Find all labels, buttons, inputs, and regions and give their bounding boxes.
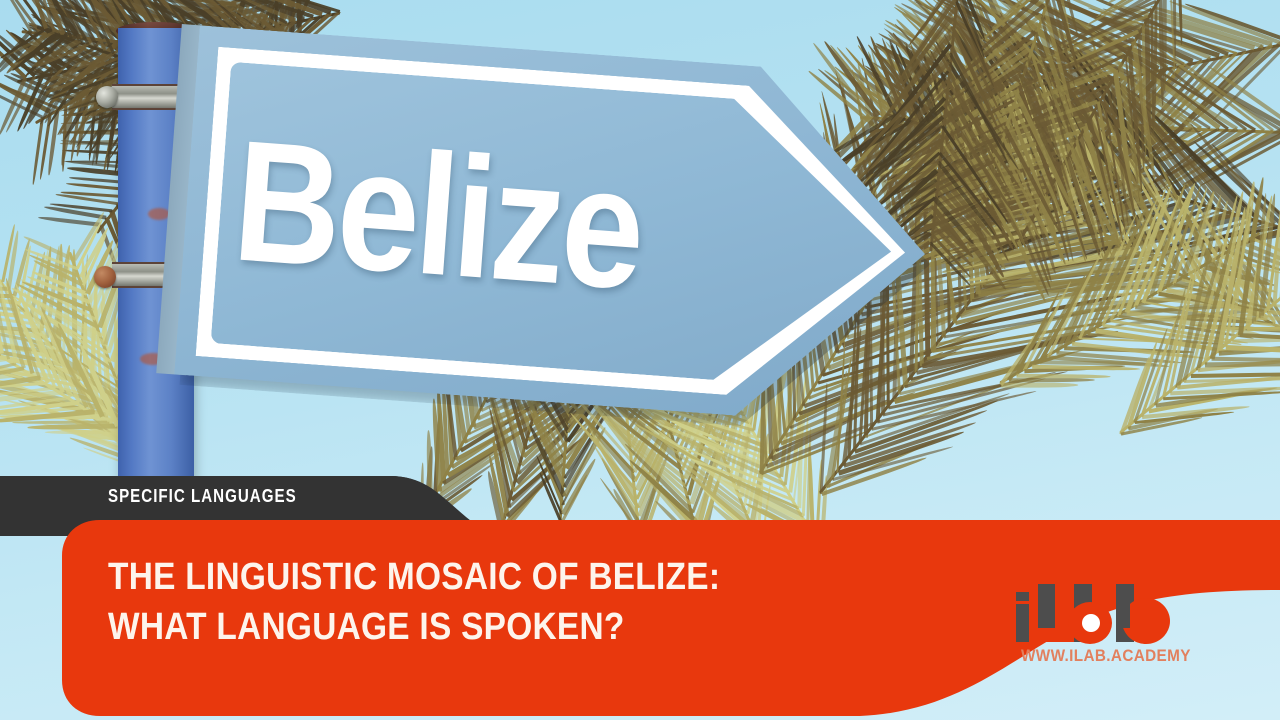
- ilab-logo[interactable]: WWW.ILAB.ACADEMY: [1012, 582, 1192, 678]
- poster-title-text: THE LINGUISTIC MOSAIC OF BELIZE: WHAT LA…: [108, 556, 720, 648]
- frond-leaflet: [1001, 382, 1078, 387]
- frond-leaflet: [1247, 326, 1280, 332]
- ilab-wordmark: [1012, 582, 1192, 646]
- logo-url-label: WWW.ILAB.ACADEMY: [1021, 646, 1183, 666]
- logo-i-stem: [1016, 604, 1029, 642]
- lower-left-bolt: [94, 266, 116, 288]
- poster-title: THE LINGUISTIC MOSAIC OF BELIZE: WHAT LA…: [108, 552, 720, 652]
- belize-direction-sign: Belize: [174, 25, 938, 428]
- frond-leaflet: [1017, 374, 1111, 379]
- logo-a-counter: [1082, 614, 1100, 632]
- sign-label-belize: Belize: [229, 121, 646, 309]
- logo-i-dot: [1016, 592, 1029, 601]
- logo-b-stem-top: [1116, 584, 1130, 628]
- poster-canvas: Belize SPECIFIC LANGUAGES THE LINGUISTIC…: [0, 0, 1280, 720]
- kicker-label: SPECIFIC LANGUAGES: [108, 486, 297, 507]
- upper-left-bolt: [96, 86, 118, 108]
- frond-leaflet: [44, 429, 126, 434]
